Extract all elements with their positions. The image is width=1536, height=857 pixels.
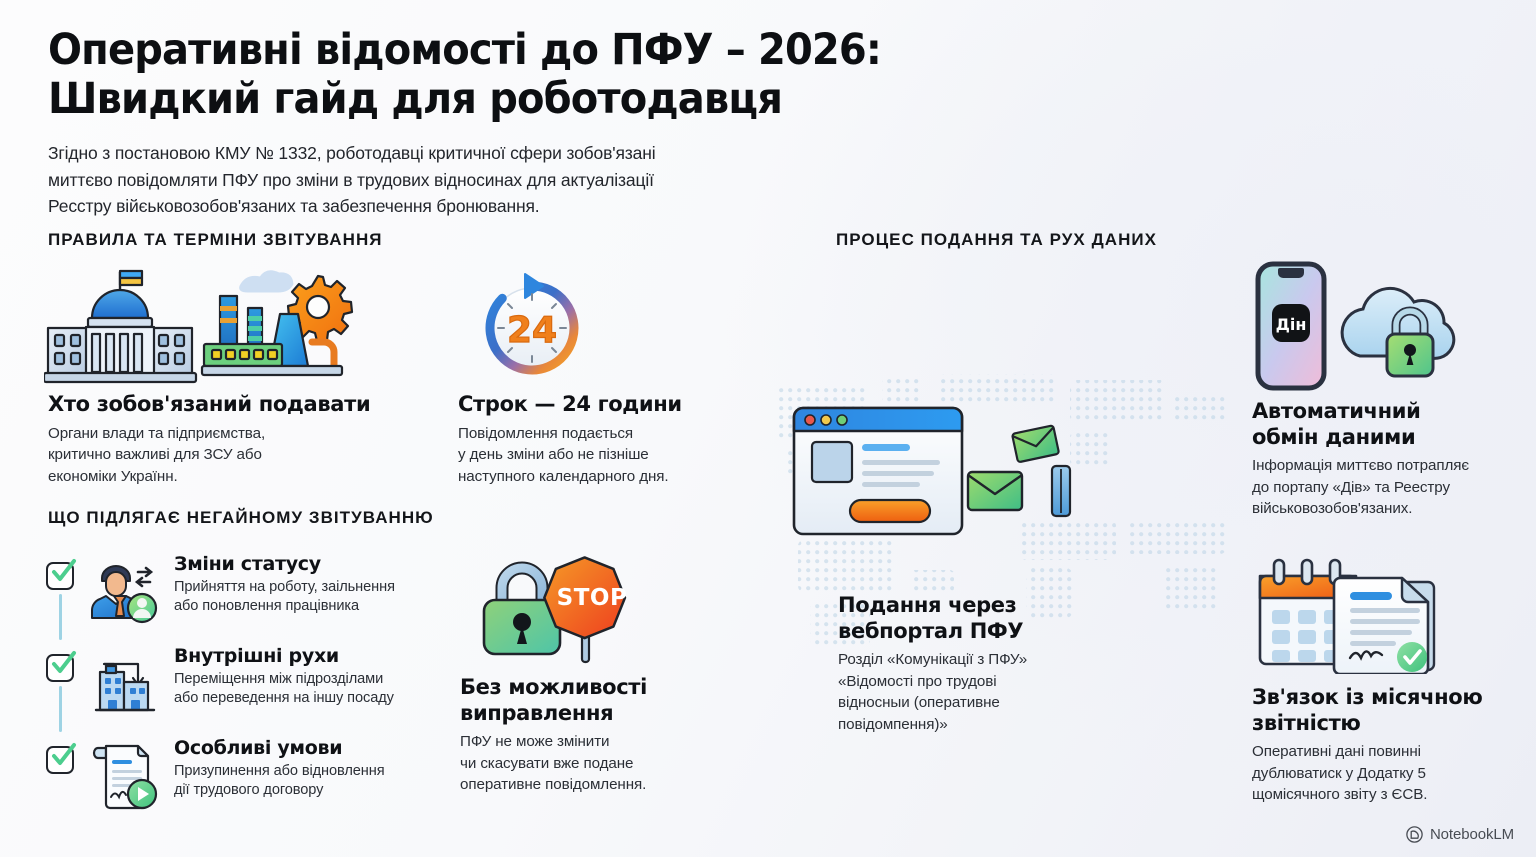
card-no-correction: Без можливості виправлення ПФУ не може з…	[460, 675, 750, 796]
checkbox-checked[interactable]	[46, 746, 74, 774]
check-icon	[49, 557, 77, 585]
24-hour-clock-icon: 24	[478, 268, 586, 385]
card-body: Розділ «Комунікації з ПФУ» «Відомості пр…	[838, 649, 1138, 735]
list-item-body: Прийняття на роботу, заільнення або поно…	[174, 578, 395, 617]
card-title: Зв'язок із місячною звітністю	[1252, 685, 1532, 736]
poster-header: Оперативні відомості до ПФУ – 2026: Швид…	[48, 26, 948, 220]
list-item: Внутрішні рухи Переміщення між підрозділ…	[46, 640, 446, 732]
contract-play-icon	[86, 734, 164, 812]
watermark-label: NotebookLM	[1430, 826, 1514, 843]
card-title: Хто зобов'язаний подавати	[48, 392, 408, 418]
card-body: ПФУ не може змінити чи скасувати вже под…	[460, 731, 750, 796]
card-body: Органи влади та підприємства, критично в…	[48, 423, 408, 488]
page-title: Оперативні відомості до ПФУ – 2026: Швид…	[48, 26, 885, 124]
notebooklm-watermark: NotebookLM	[1406, 826, 1514, 843]
calendar-signed-document-icon	[1248, 548, 1448, 679]
card-title: Строк — 24 години	[458, 392, 758, 418]
page-subtitle: Згідно з постановою КМУ № 1332, роботода…	[48, 140, 948, 220]
list-connector	[59, 686, 62, 732]
list-item-title: Особливі умови	[174, 738, 385, 759]
list-item-body: Переміщення між підрозділами або перевед…	[174, 670, 394, 709]
immediate-reporting-checklist: Зміни статусу Прийняття на роботу, заіль…	[46, 548, 446, 824]
list-connector	[59, 594, 62, 640]
check-icon	[49, 741, 77, 769]
check-icon	[49, 649, 77, 677]
section-heading-rules: ПРАВИЛА ТА ТЕРМІНИ ЗВІТУВАННЯ	[48, 230, 383, 250]
clock-number-label: 24	[507, 310, 557, 351]
checkbox-checked[interactable]	[46, 562, 74, 590]
card-submission-via-portal: Подання через вебпортал ПФУ Розділ «Кому…	[838, 593, 1138, 736]
card-title: Подання через вебпортал ПФУ	[838, 593, 1138, 644]
checkbox-checked[interactable]	[46, 654, 74, 682]
list-item-title: Зміни статусу	[174, 554, 395, 575]
notebooklm-spiral-icon	[1406, 826, 1423, 843]
list-item: Зміни статусу Прийняття на роботу, заіль…	[46, 548, 446, 640]
card-body: Повідомлення подається у день зміни або …	[458, 423, 758, 488]
lock-stop-sign-icon: STOP	[470, 548, 640, 673]
list-item-title: Внутрішні рухи	[174, 646, 394, 667]
government-factory-icon	[44, 262, 374, 389]
card-monthly-reporting-link: Зв'язок із місячною звітністю Оперативні…	[1252, 685, 1532, 806]
phone-cloud-lock-icon: Дін	[1248, 260, 1478, 397]
employee-status-icon	[86, 550, 164, 628]
section-heading-immediate: ЩО ПІДЛЯГАЄ НЕГАЙНОМУ ЗВІТУВАННЮ	[48, 508, 434, 528]
office-transfer-icon	[86, 642, 164, 720]
list-item: Особливі умови Призупинення або відновле…	[46, 732, 446, 824]
card-body: Інформація миттєво потрапляє до портапу …	[1252, 455, 1532, 520]
phone-app-label: Дін	[1276, 315, 1307, 334]
section-heading-process: ПРОЦЕС ПОДАННЯ ТА РУХ ДАНИХ	[836, 230, 1157, 250]
card-title: Без можливості виправлення	[460, 675, 750, 726]
web-portal-browser-icon	[790, 398, 1140, 583]
card-who-must-report: Хто зобов'язаний подавати Органи влади т…	[48, 392, 408, 487]
card-body: Оперативні дані повинні дублюватиск у До…	[1252, 741, 1532, 806]
list-item-body: Призупинення або відновлення дії трудово…	[174, 762, 385, 801]
card-title: Автоматичний обмін даними	[1252, 399, 1532, 450]
stop-sign-label: STOP	[557, 585, 628, 611]
infographic-poster: Оперативні відомості до ПФУ – 2026: Швид…	[0, 0, 1536, 857]
card-deadline-24h: Строк — 24 години Повідомлення подається…	[458, 392, 758, 487]
card-automatic-data-exchange: Автоматичний обмін даними Інформація мит…	[1252, 399, 1532, 520]
